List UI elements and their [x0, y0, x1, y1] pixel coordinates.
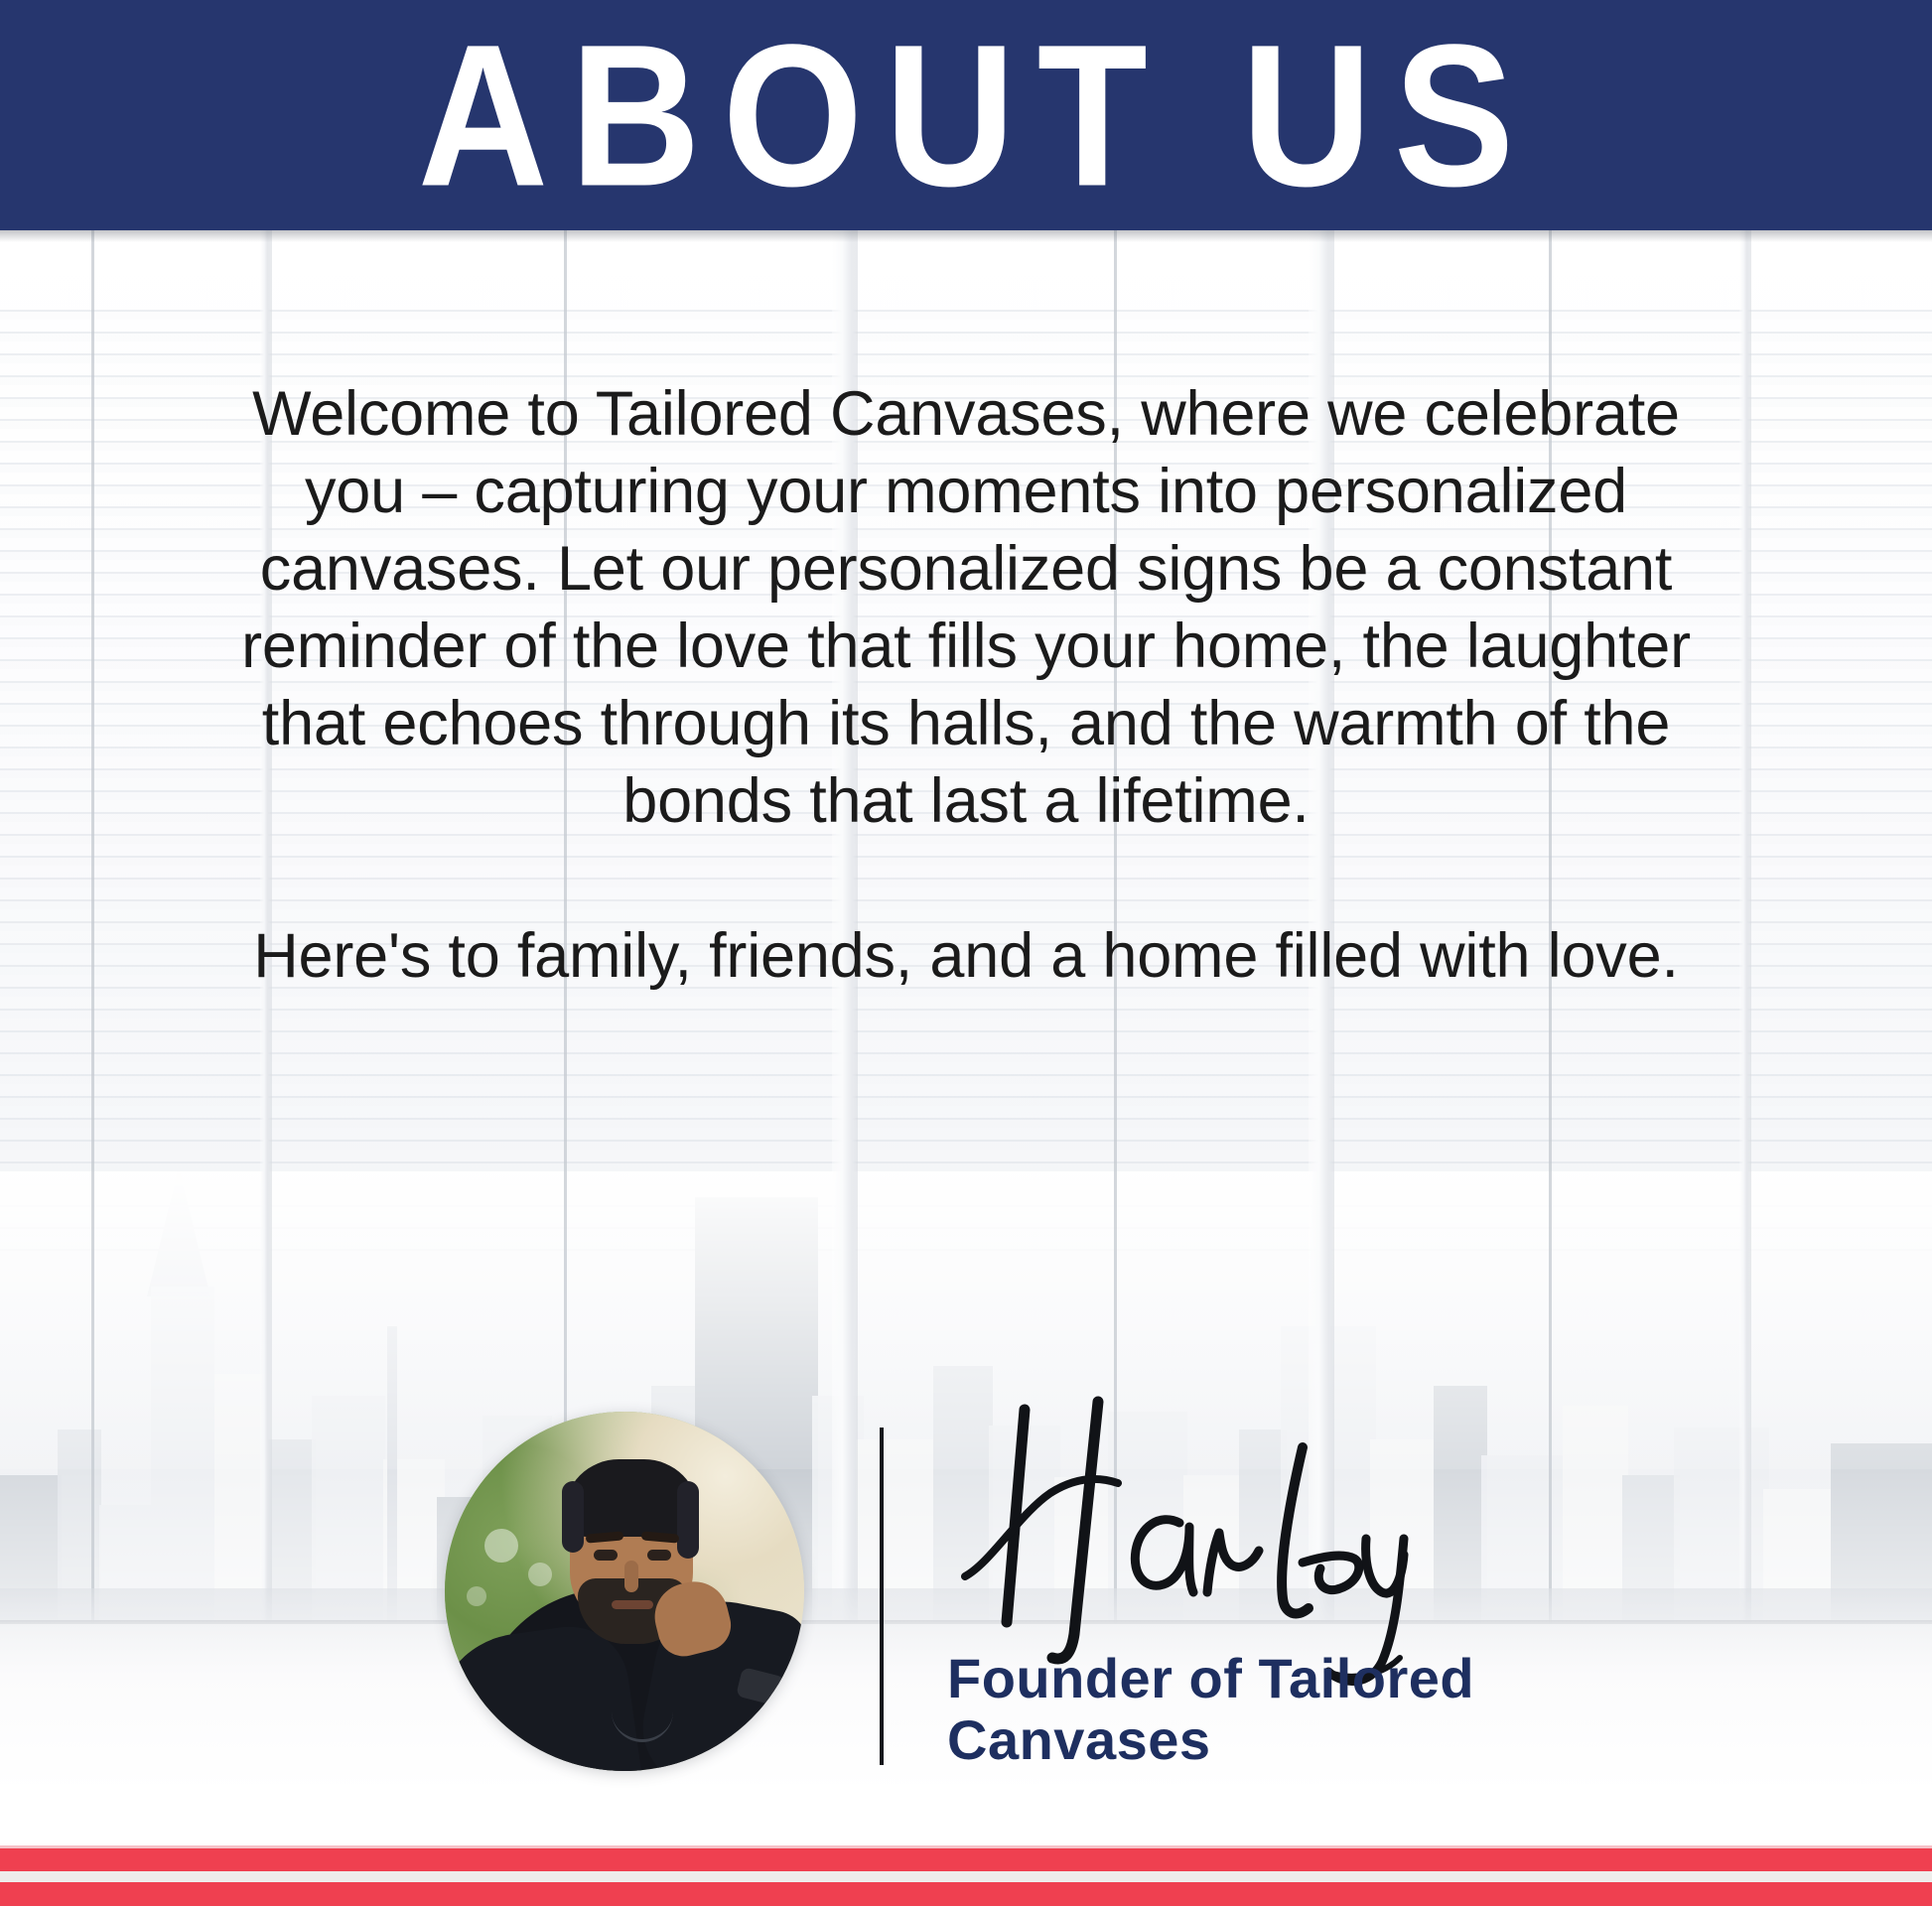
- vertical-divider: [880, 1428, 884, 1765]
- bokeh-light: [528, 1563, 552, 1586]
- about-us-poster: ABOUT US Welcome to Tailored Canvases, w…: [0, 0, 1932, 1906]
- avatar-hair-side: [677, 1481, 699, 1559]
- footer-stripe-gap: [0, 1871, 1932, 1882]
- page-title: ABOUT US: [396, 14, 1536, 216]
- avatar-nose: [624, 1561, 638, 1592]
- bokeh-light: [467, 1586, 486, 1606]
- avatar-eye: [647, 1550, 671, 1561]
- bokeh-light: [484, 1529, 518, 1563]
- window-mullion: [91, 230, 94, 1624]
- footer-stripe-bottom: [0, 1882, 1932, 1906]
- founder-signature: [933, 1388, 1489, 1686]
- window-mullion: [1739, 230, 1751, 1624]
- header-band: ABOUT US: [0, 0, 1932, 230]
- about-copy: Welcome to Tailored Canvases, where we c…: [207, 298, 1725, 1072]
- avatar-eye: [594, 1550, 618, 1561]
- about-paragraph-2: Here's to family, friends, and a home fi…: [207, 917, 1725, 995]
- footer-stripe-top: [0, 1848, 1932, 1871]
- avatar: [445, 1412, 804, 1771]
- founder-block: Founder of Tailored Canvases: [427, 1398, 1519, 1795]
- signature-icon: [933, 1388, 1489, 1686]
- about-paragraph-1: Welcome to Tailored Canvases, where we c…: [241, 379, 1691, 836]
- founder-role: Founder of Tailored Canvases: [947, 1648, 1563, 1771]
- avatar-hair-side: [562, 1481, 584, 1553]
- avatar-necklace: [612, 1678, 673, 1742]
- header-drop-shadow: [0, 230, 1932, 242]
- avatar-mouth: [612, 1600, 653, 1609]
